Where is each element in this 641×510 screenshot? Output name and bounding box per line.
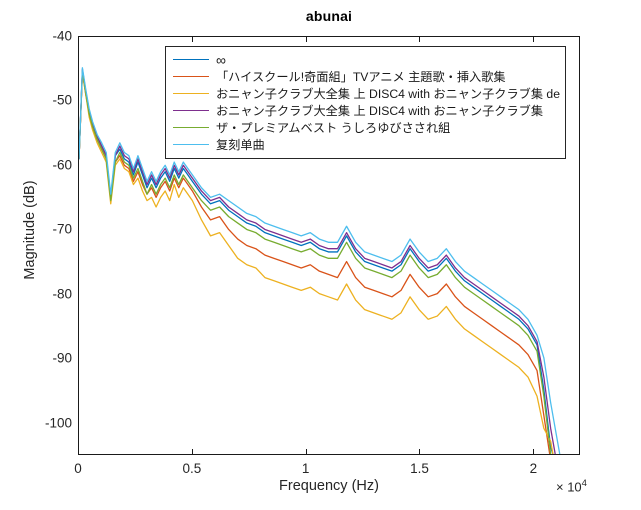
- x-axis-label: Frequency (Hz): [78, 478, 580, 494]
- x-axis-tick-mark: [78, 36, 79, 42]
- legend-color-swatch: [173, 127, 209, 128]
- x-axis-tick-label: 0: [48, 461, 108, 476]
- legend-item[interactable]: 「ハイスクール!奇面組」TVアニメ 主題歌・挿入歌集: [171, 68, 560, 85]
- legend-color-swatch: [173, 93, 209, 94]
- chart-title: abunai: [78, 8, 580, 24]
- legend-item-label: 复刻单曲: [216, 137, 560, 153]
- x-axis-exponent-base: × 10: [556, 479, 582, 494]
- legend-color-swatch: [173, 59, 209, 60]
- legend-item-label: おニャン子クラブ大全集 上 DISC4 with おニャン子クラブ集: [216, 103, 560, 119]
- x-axis-tick-label: 1.5: [389, 461, 449, 476]
- x-axis-tick-mark: [192, 36, 193, 42]
- y-axis-label: Magnitude (dB): [22, 20, 38, 440]
- legend-color-swatch: [173, 144, 209, 145]
- x-axis-tick-mark: [533, 36, 534, 42]
- x-axis-tick-label: 0.5: [162, 461, 222, 476]
- x-axis-tick-mark: [419, 36, 420, 42]
- figure-canvas: abunai -40-50-60-70-80-90-100 00.511.52 …: [0, 0, 641, 510]
- legend-item-label: ∞: [216, 52, 560, 68]
- legend-item[interactable]: おニャン子クラブ大全集 上 DISC4 with おニャン子クラブ集 deem: [171, 85, 560, 102]
- legend-item[interactable]: おニャン子クラブ大全集 上 DISC4 with おニャン子クラブ集: [171, 102, 560, 119]
- legend-color-swatch: [173, 110, 209, 111]
- x-axis-exponent-power: 4: [582, 478, 587, 489]
- legend-color-swatch: [173, 76, 209, 77]
- legend-item[interactable]: ザ・プレミアムベスト うしろゆびさされ組: [171, 119, 560, 136]
- y-axis-tick-labels: -40-50-60-70-80-90-100: [10, 36, 72, 455]
- legend-item-label: ザ・プレミアムベスト うしろゆびさされ組: [216, 120, 560, 136]
- x-axis-tick-mark: [306, 36, 307, 42]
- x-axis-exponent: × 104: [556, 478, 587, 494]
- x-axis-tick-label: 2: [503, 461, 563, 476]
- legend-item-label: 「ハイスクール!奇面組」TVアニメ 主題歌・挿入歌集: [216, 69, 560, 85]
- legend-box: ∞「ハイスクール!奇面組」TVアニメ 主題歌・挿入歌集おニャン子クラブ大全集 上…: [165, 46, 566, 159]
- x-axis-tick-labels: 00.511.52: [0, 455, 641, 479]
- legend-item[interactable]: ∞: [171, 51, 560, 68]
- legend-item-label: おニャン子クラブ大全集 上 DISC4 with おニャン子クラブ集 deem: [216, 86, 560, 102]
- x-axis-tick-label: 1: [276, 461, 336, 476]
- legend-item[interactable]: 复刻单曲: [171, 136, 560, 153]
